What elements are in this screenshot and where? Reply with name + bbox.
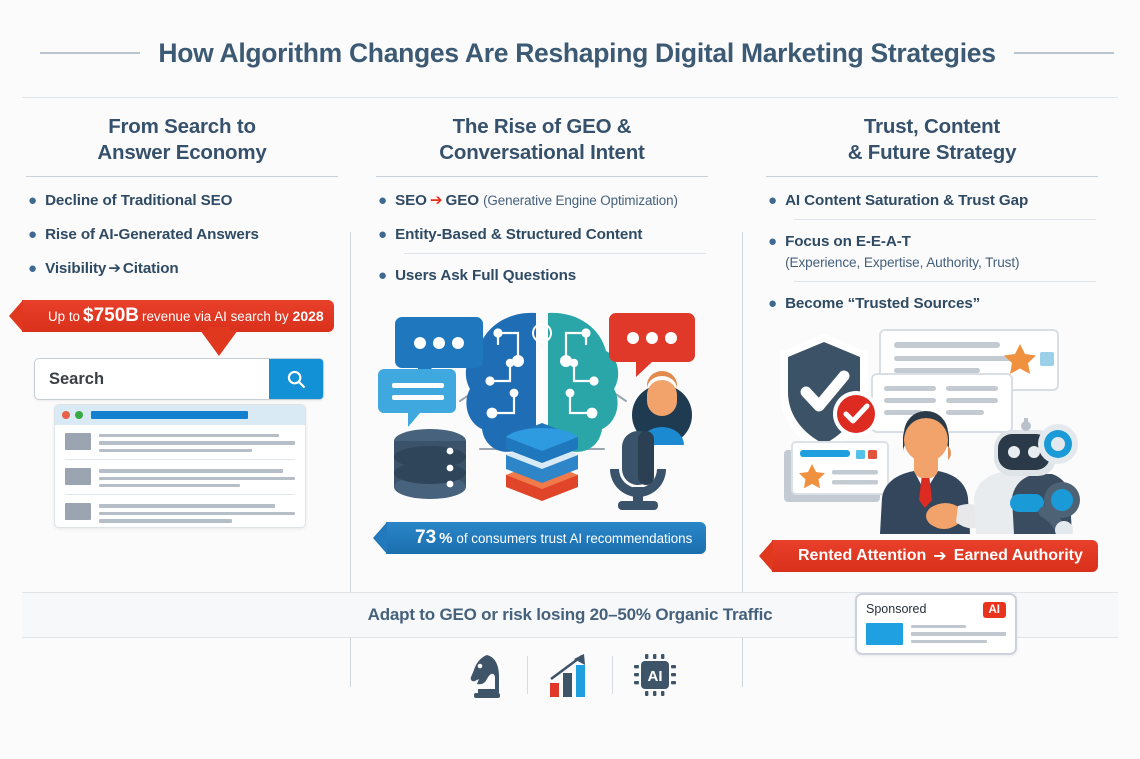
revenue-banner-wrap: Up to $750B revenue via AI search by 202… xyxy=(22,300,334,332)
search-result-row xyxy=(55,495,305,522)
bullet-text: Users Ask Full Questions xyxy=(395,266,576,286)
sponsored-line xyxy=(911,625,966,628)
bullet-dot-icon: ● xyxy=(378,225,387,244)
bullet-main: Focus on E-E-A-T xyxy=(785,233,911,250)
column-left-title: From Search to Answer Economy xyxy=(22,104,342,166)
arrow-right-icon: ➔ xyxy=(106,260,123,277)
list-item: ● Become “Trusted Sources” xyxy=(768,294,1096,314)
result-line xyxy=(99,484,240,487)
search-result-row xyxy=(55,460,305,487)
bullet-separator xyxy=(404,253,706,254)
list-item: ● Entity-Based & Structured Content xyxy=(378,225,706,245)
footer-icon-divider xyxy=(527,656,528,694)
bullet-dot-icon: ● xyxy=(28,225,37,244)
result-line xyxy=(99,512,295,515)
column-right-title-line1: Trust, Content xyxy=(762,114,1102,140)
result-lines xyxy=(99,503,295,522)
title-row: How Algorithm Changes Are Reshaping Digi… xyxy=(0,30,1140,76)
bullet-dot-icon: ● xyxy=(768,191,777,210)
ai-brain-conversation-illustration xyxy=(372,289,712,514)
bullet-text: SEO➔GEO (Generative Engine Optimization) xyxy=(395,191,678,211)
sponsored-card: Sponsored AI xyxy=(855,593,1017,655)
bullet-post: GEO xyxy=(445,192,478,209)
column-middle-bullets: ● SEO➔GEO (Generative Engine Optimizatio… xyxy=(372,191,712,286)
svg-text:AI: AI xyxy=(648,668,663,685)
authority-banner-wrap: Rented Attention➔Earned Authority xyxy=(772,540,1098,572)
result-line xyxy=(99,434,279,437)
column-left-title-line2: Answer Economy xyxy=(22,140,342,166)
header-divider xyxy=(22,97,1118,98)
bullet-text: Rise of AI-Generated Answers xyxy=(45,225,259,245)
result-thumbnail xyxy=(65,433,91,450)
infographic-canvas: How Algorithm Changes Are Reshaping Digi… xyxy=(0,0,1140,759)
footer-icon-divider xyxy=(612,656,613,694)
bullet-dot-icon: ● xyxy=(28,259,37,278)
page-title: How Algorithm Changes Are Reshaping Digi… xyxy=(158,38,995,69)
sponsored-line xyxy=(911,632,1006,635)
banner-year: 2028 xyxy=(293,308,324,324)
result-lines xyxy=(99,433,295,452)
down-arrow-icon xyxy=(200,330,238,356)
list-item: ● Rise of AI-Generated Answers xyxy=(28,225,336,245)
column-right-title: Trust, Content & Future Strategy xyxy=(762,104,1102,166)
browser-url-bar xyxy=(91,411,248,419)
search-results-mockup xyxy=(54,404,306,528)
banner-prefix: Up to xyxy=(48,309,80,324)
trust-handshake-robot-illustration xyxy=(762,322,1102,532)
result-line xyxy=(99,469,283,472)
column-right: Trust, Content & Future Strategy ● AI Co… xyxy=(762,104,1102,589)
bullet-dot-icon: ● xyxy=(378,266,387,285)
bullet-dot-icon: ● xyxy=(768,232,777,251)
column-left-bullets: ● Decline of Traditional SEO ● Rise of A… xyxy=(22,191,342,279)
result-line xyxy=(99,504,275,507)
bullet-text: Entity-Based & Structured Content xyxy=(395,225,642,245)
column-middle-title-line2: Conversational Intent xyxy=(372,140,712,166)
result-line xyxy=(99,441,295,444)
title-rule-left xyxy=(40,52,140,54)
stat-value: 73 xyxy=(412,527,439,549)
column-middle-rule xyxy=(376,176,708,177)
bullet-subtext: (Generative Engine Optimization) xyxy=(483,193,678,208)
list-item: ● Focus on E-E-A-T (Experience, Expertis… xyxy=(768,232,1096,273)
result-lines xyxy=(99,468,295,487)
column-middle-title: The Rise of GEO & Conversational Intent xyxy=(372,104,712,166)
ai-badge: AI xyxy=(983,602,1007,618)
result-thumbnail xyxy=(65,468,91,485)
column-right-rule xyxy=(766,176,1098,177)
columns-container: From Search to Answer Economy ● Decline … xyxy=(0,104,1140,589)
bullet-text: Visibility➔Citation xyxy=(45,259,179,279)
bullet-text: Focus on E-E-A-T (Experience, Expertise,… xyxy=(785,232,1019,273)
column-middle-title-line1: The Rise of GEO & xyxy=(372,114,712,140)
banner-post: Earned Authority xyxy=(954,547,1083,565)
banner-highlight: $750B xyxy=(80,305,142,327)
search-result-row xyxy=(55,425,305,452)
column-left-title-line1: From Search to xyxy=(22,114,342,140)
bullet-post: Citation xyxy=(123,260,179,277)
trust-stat-banner-wrap: 73% of consumers trust AI recommendation… xyxy=(386,522,706,554)
column-middle: The Rise of GEO & Conversational Intent … xyxy=(372,104,712,589)
bullet-text: Become “Trusted Sources” xyxy=(785,294,980,314)
window-close-dot-icon xyxy=(62,411,70,419)
list-item: ● SEO➔GEO (Generative Engine Optimizatio… xyxy=(378,191,706,211)
result-line xyxy=(99,519,232,522)
result-thumbnail xyxy=(65,503,91,520)
bullet-pre: Visibility xyxy=(45,260,106,277)
list-item: ● Decline of Traditional SEO xyxy=(28,191,336,211)
bullet-separator xyxy=(794,281,1096,282)
bullet-text: AI Content Saturation & Trust Gap xyxy=(785,191,1028,211)
column-right-bullets: ● AI Content Saturation & Trust Gap ● Fo… xyxy=(762,191,1102,314)
result-line xyxy=(99,449,252,452)
stat-text: of consumers trust AI recommendations xyxy=(456,531,692,546)
list-item: ● AI Content Saturation & Trust Gap xyxy=(768,191,1096,211)
bullet-dot-icon: ● xyxy=(28,191,37,210)
column-left-rule xyxy=(26,176,338,177)
arrow-right-icon: ➔ xyxy=(427,192,446,209)
bullet-separator xyxy=(794,219,1096,220)
arrow-right-icon: ➔ xyxy=(926,546,953,566)
sponsored-thumbnail xyxy=(866,623,903,645)
title-rule-right xyxy=(1014,52,1114,54)
search-input[interactable]: Search xyxy=(34,358,324,400)
search-icon[interactable] xyxy=(269,359,323,399)
stat-unit: % xyxy=(439,530,452,547)
search-placeholder: Search xyxy=(35,370,269,389)
result-line xyxy=(99,477,295,480)
list-item: ● Visibility➔Citation xyxy=(28,259,336,279)
sponsored-line xyxy=(911,640,987,643)
column-left: From Search to Answer Economy ● Decline … xyxy=(22,104,342,589)
list-item: ● Users Ask Full Questions xyxy=(378,266,706,286)
bullet-subtext: (Experience, Expertise, Authority, Trust… xyxy=(785,253,1019,273)
column-right-title-line2: & Future Strategy xyxy=(762,140,1102,166)
browser-titlebar xyxy=(55,405,305,425)
growth-bar-chart-icon xyxy=(539,646,601,704)
sponsored-lines xyxy=(911,623,1006,645)
sponsored-body xyxy=(866,623,1006,645)
sponsored-header: Sponsored AI xyxy=(866,602,1006,618)
revenue-banner: Up to $750B revenue via AI search by 202… xyxy=(22,300,334,332)
chess-knight-icon xyxy=(454,646,516,704)
window-maximize-dot-icon xyxy=(75,411,83,419)
ai-chip-icon: AI xyxy=(624,646,686,704)
bullet-dot-icon: ● xyxy=(768,294,777,313)
bullet-dot-icon: ● xyxy=(378,191,387,210)
sponsored-label: Sponsored xyxy=(866,602,926,616)
banner-pre: Rented Attention xyxy=(798,547,926,565)
bullet-pre: SEO xyxy=(395,192,427,209)
trust-stat-banner: 73% of consumers trust AI recommendation… xyxy=(386,522,706,554)
banner-middle: revenue via AI search by xyxy=(142,309,289,324)
bullet-text: Decline of Traditional SEO xyxy=(45,191,232,211)
authority-banner: Rented Attention➔Earned Authority xyxy=(772,540,1098,572)
